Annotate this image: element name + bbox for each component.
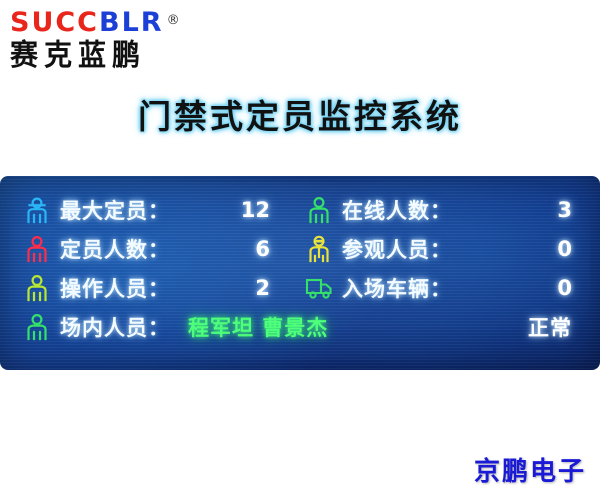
led-value: 2 [255, 276, 304, 300]
logo-wordmark-blr: BLR [99, 7, 164, 38]
led-field-max-capacity: 最大定员： 12 [22, 194, 304, 226]
registered-trademark-icon: ® [167, 6, 182, 36]
led-field-operator-count: 操作人员： 2 [22, 272, 304, 304]
led-value: 6 [255, 237, 304, 261]
led-field-quota-count: 定员人数： 6 [22, 233, 304, 265]
logo-wordmark-succ: SUCC [10, 7, 99, 38]
status-badge: 正常 [528, 312, 586, 342]
company-logo: SUCCBLR® 赛克蓝鹏 [10, 8, 220, 70]
led-value: 3 [557, 198, 586, 222]
led-data-grid: 最大定员： 12 在线人数： 3 [0, 176, 600, 370]
footer-watermark: 京鹏电子 [474, 451, 586, 488]
truck-icon [304, 272, 334, 304]
person-cap-icon [22, 194, 52, 226]
person-icon [304, 194, 334, 226]
led-label: 参观人员： [342, 234, 452, 264]
led-field-visitor-count: 参观人员： 0 [304, 233, 586, 265]
logo-wordmark: SUCCBLR® [10, 8, 220, 38]
logo-chinese-name: 赛克蓝鹏 [10, 39, 220, 73]
led-row-onsite-personnel: 场内人员： 程军坦 曹景杰 正常 [22, 307, 586, 346]
person-icon [22, 311, 52, 343]
page-title: 门禁式定员监控系统 [0, 90, 600, 138]
visitor-person-icon [304, 233, 334, 265]
led-label: 定员人数： [60, 234, 170, 264]
led-field-vehicle-count: 入场车辆： 0 [304, 272, 586, 304]
led-row: 操作人员： 2 入场车辆： 0 [22, 268, 586, 307]
led-label: 在线人数： [342, 195, 452, 225]
person-icon [22, 233, 52, 265]
onsite-personnel-names: 程军坦 曹景杰 [188, 312, 328, 342]
led-row: 定员人数： 6 参观人员： 0 [22, 229, 586, 268]
led-label: 入场车辆： [342, 273, 452, 303]
led-value: 0 [557, 276, 586, 300]
led-value: 12 [241, 198, 304, 222]
person-icon [22, 272, 52, 304]
led-display-panel: 最大定员： 12 在线人数： 3 [0, 176, 600, 370]
led-label: 场内人员： [60, 312, 170, 342]
led-label: 最大定员： [60, 195, 170, 225]
led-value: 0 [557, 237, 586, 261]
led-row: 最大定员： 12 在线人数： 3 [22, 190, 586, 229]
led-field-online-count: 在线人数： 3 [304, 194, 586, 226]
led-label: 操作人员： [60, 273, 170, 303]
